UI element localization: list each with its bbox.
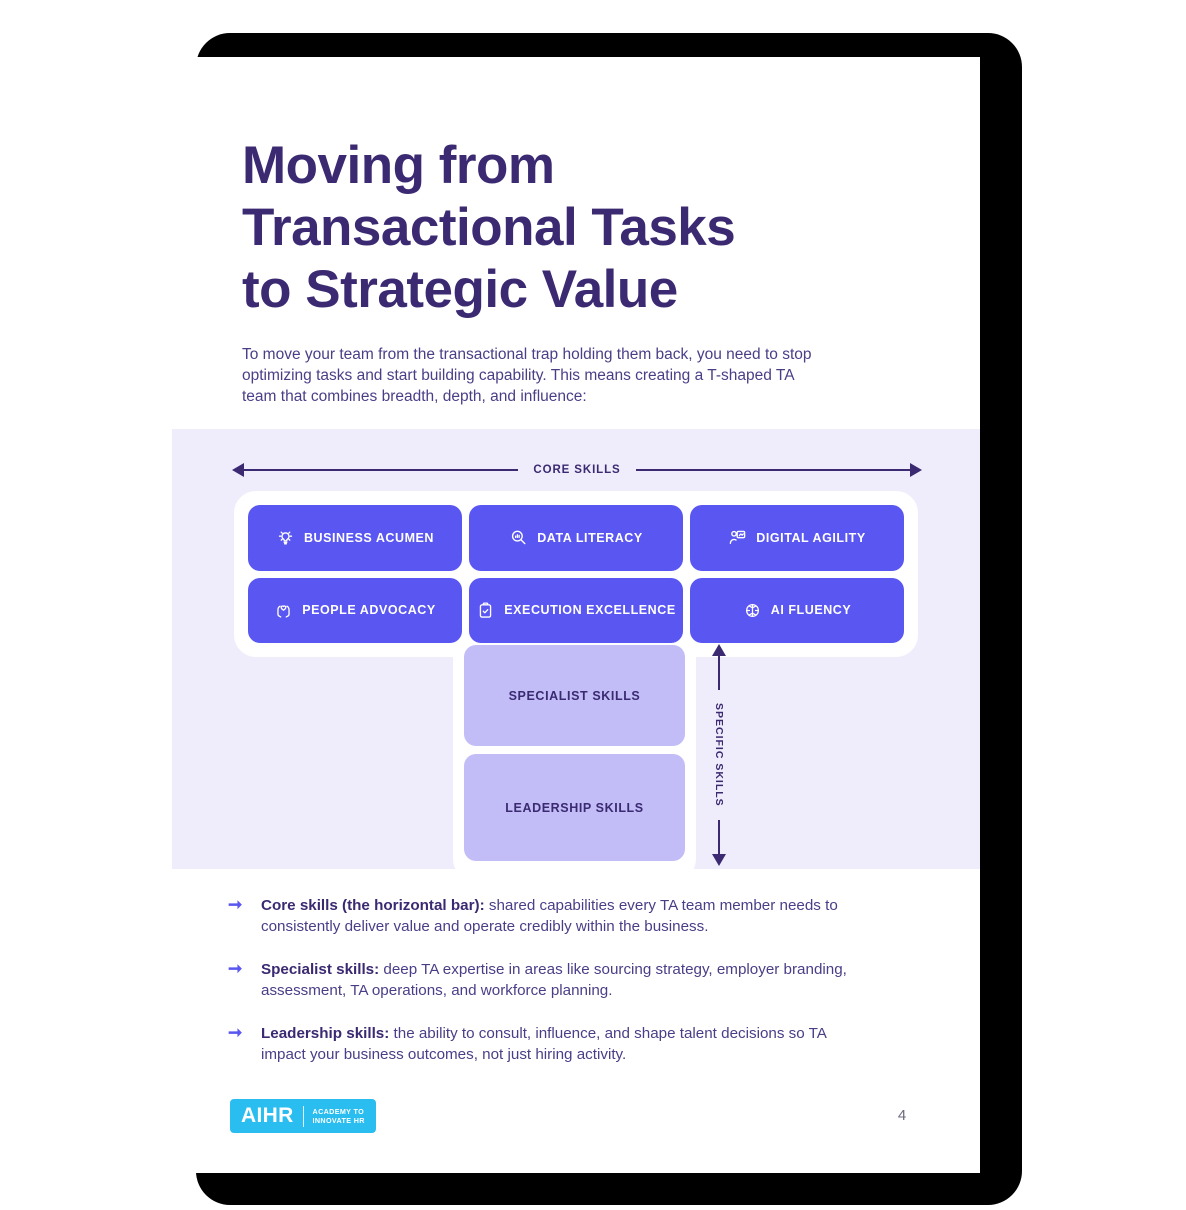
core-skill-ai-fluency[interactable]: AI FLUENCY <box>690 578 904 644</box>
specific-skill-label: LEADERSHIP SKILLS <box>505 801 643 815</box>
aihr-logo-tagline: ACADEMY TO INNOVATE HR <box>313 1107 365 1126</box>
arrow-bullet-icon: ➞ <box>228 895 244 937</box>
arrow-right-icon <box>910 463 922 477</box>
list-item: ➞ Core skills (the horizontal bar): shar… <box>228 895 848 937</box>
core-skill-business-acumen[interactable]: BUSINESS ACUMEN <box>248 505 462 571</box>
specific-skill-leadership[interactable]: LEADERSHIP SKILLS <box>464 754 685 861</box>
aihr-logo-tagline-line-1: ACADEMY TO <box>313 1107 365 1116</box>
core-skill-digital-agility[interactable]: DIGITAL AGILITY <box>690 505 904 571</box>
core-skill-people-advocacy[interactable]: PEOPLE ADVOCACY <box>248 578 462 644</box>
axis-line-left <box>244 469 518 471</box>
core-skill-execution-excellence[interactable]: EXECUTION EXCELLENCE <box>469 578 683 644</box>
aihr-logo[interactable]: AIHR ACADEMY TO INNOVATE HR <box>230 1099 376 1133</box>
core-skills-axis-label: CORE SKILLS <box>518 464 635 476</box>
core-skill-label: DIGITAL AGILITY <box>756 531 865 545</box>
page-title-line-1: Moving from <box>242 135 882 197</box>
list-item: ➞ Leadership skills: the ability to cons… <box>228 1023 848 1065</box>
specific-skills-axis-label: SPECIFIC SKILLS <box>713 690 725 820</box>
core-skill-data-literacy[interactable]: DATA LITERACY <box>469 505 683 571</box>
aihr-logo-wordmark: AIHR <box>241 1104 294 1128</box>
logo-divider <box>303 1106 304 1127</box>
bullet-lead: Specialist skills: <box>261 961 379 978</box>
page-number: 4 <box>882 1107 922 1124</box>
bullet-text: Leadership skills: the ability to consul… <box>261 1023 848 1065</box>
arrow-down-icon <box>712 854 726 866</box>
page-title-line-2: Transactional Tasks <box>242 197 882 259</box>
page-title: Moving from Transactional Tasks to Strat… <box>242 135 882 321</box>
magnifier-chart-icon <box>509 528 528 547</box>
bullet-text: Specialist skills: deep TA expertise in … <box>261 959 848 1001</box>
core-skills-axis: CORE SKILLS <box>232 457 922 483</box>
arrow-bullet-icon: ➞ <box>228 959 244 1001</box>
arrow-left-icon <box>232 463 244 477</box>
ai-brain-icon <box>743 601 762 620</box>
skills-bullet-list: ➞ Core skills (the horizontal bar): shar… <box>228 895 848 1087</box>
t-shape-diagram: CORE SKILLS BUSINESS ACUMEN <box>172 429 980 869</box>
bullet-lead: Core skills (the horizontal bar): <box>261 897 485 914</box>
document-page: Moving from Transactional Tasks to Strat… <box>172 57 980 1173</box>
specific-skill-specialist[interactable]: SPECIALIST SKILLS <box>464 645 685 746</box>
heart-hands-icon <box>274 601 293 620</box>
intro-paragraph: To move your team from the transactional… <box>242 344 822 407</box>
bullet-lead: Leadership skills: <box>261 1025 389 1042</box>
person-screen-icon <box>728 528 747 547</box>
core-skill-label: DATA LITERACY <box>537 531 643 545</box>
axis-line-right <box>636 469 910 471</box>
axis-line-top <box>718 656 720 690</box>
core-skills-grid: BUSINESS ACUMEN DATA LITERACY <box>248 505 904 643</box>
lightbulb-idea-icon <box>276 528 295 547</box>
core-skill-label: EXECUTION EXCELLENCE <box>504 603 675 617</box>
core-skill-label: BUSINESS ACUMEN <box>304 531 434 545</box>
core-skill-label: AI FLUENCY <box>771 603 852 617</box>
arrow-up-icon <box>712 644 726 656</box>
list-item: ➞ Specialist skills: deep TA expertise i… <box>228 959 848 1001</box>
core-skill-label: PEOPLE ADVOCACY <box>302 603 436 617</box>
page-title-line-3: to Strategic Value <box>242 259 882 321</box>
bullet-text: Core skills (the horizontal bar): shared… <box>261 895 848 937</box>
axis-line-bottom <box>718 820 720 854</box>
specific-skills-axis: SPECIFIC SKILLS <box>702 644 736 866</box>
arrow-bullet-icon: ➞ <box>228 1023 244 1065</box>
specific-skill-label: SPECIALIST SKILLS <box>509 689 641 703</box>
clipboard-check-icon <box>476 601 495 620</box>
aihr-logo-tagline-line-2: INNOVATE HR <box>313 1116 365 1125</box>
